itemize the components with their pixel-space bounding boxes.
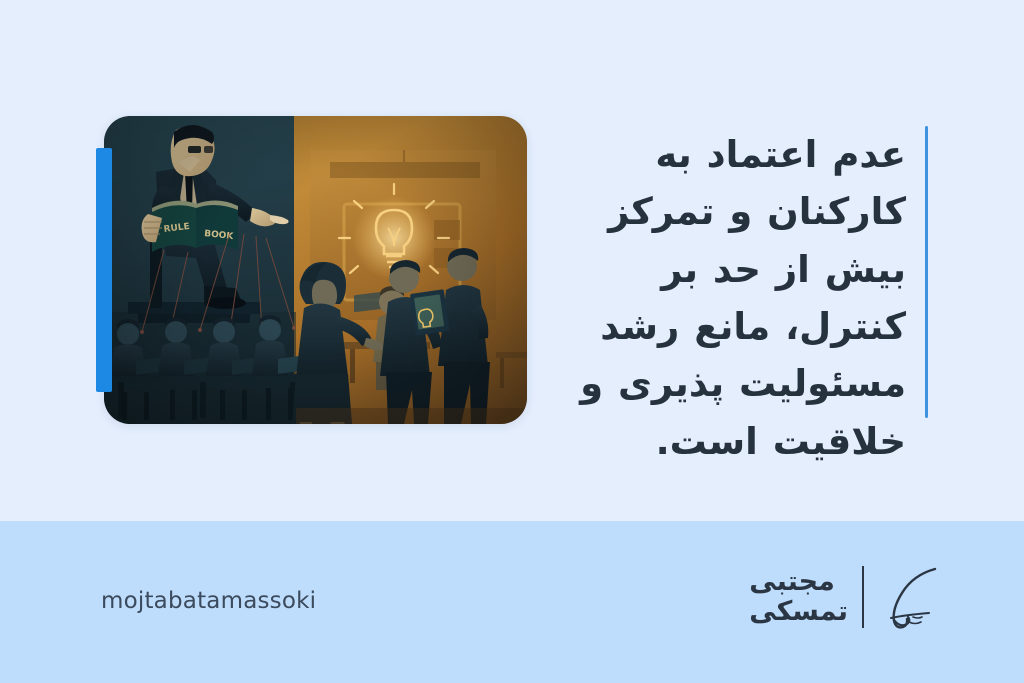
illustration-card: RULE BOOK	[104, 116, 527, 424]
illustration: RULE BOOK	[96, 116, 527, 424]
quote-card-canvas: RULE BOOK	[0, 0, 1024, 683]
brand-last-name: تمسکی	[749, 597, 848, 627]
quote-block: عدم اعتماد به کارکنان و تمرکز بیش از حد …	[533, 126, 928, 470]
social-handle: mojtabatamassoki	[101, 588, 316, 614]
brand-logo: مجتبی تمسکی	[749, 556, 940, 638]
quote-accent-rule	[925, 126, 928, 418]
brand-words: مجتبی تمسکی	[749, 567, 848, 627]
brand-first-name: مجتبی	[749, 567, 835, 597]
quote-text: عدم اعتماد به کارکنان و تمرکز بیش از حد …	[533, 126, 928, 470]
blue-accent-bar	[96, 148, 112, 392]
brand-divider	[862, 566, 864, 628]
calligraphic-signature-icon	[878, 562, 940, 632]
illustration-vignette	[104, 116, 527, 424]
